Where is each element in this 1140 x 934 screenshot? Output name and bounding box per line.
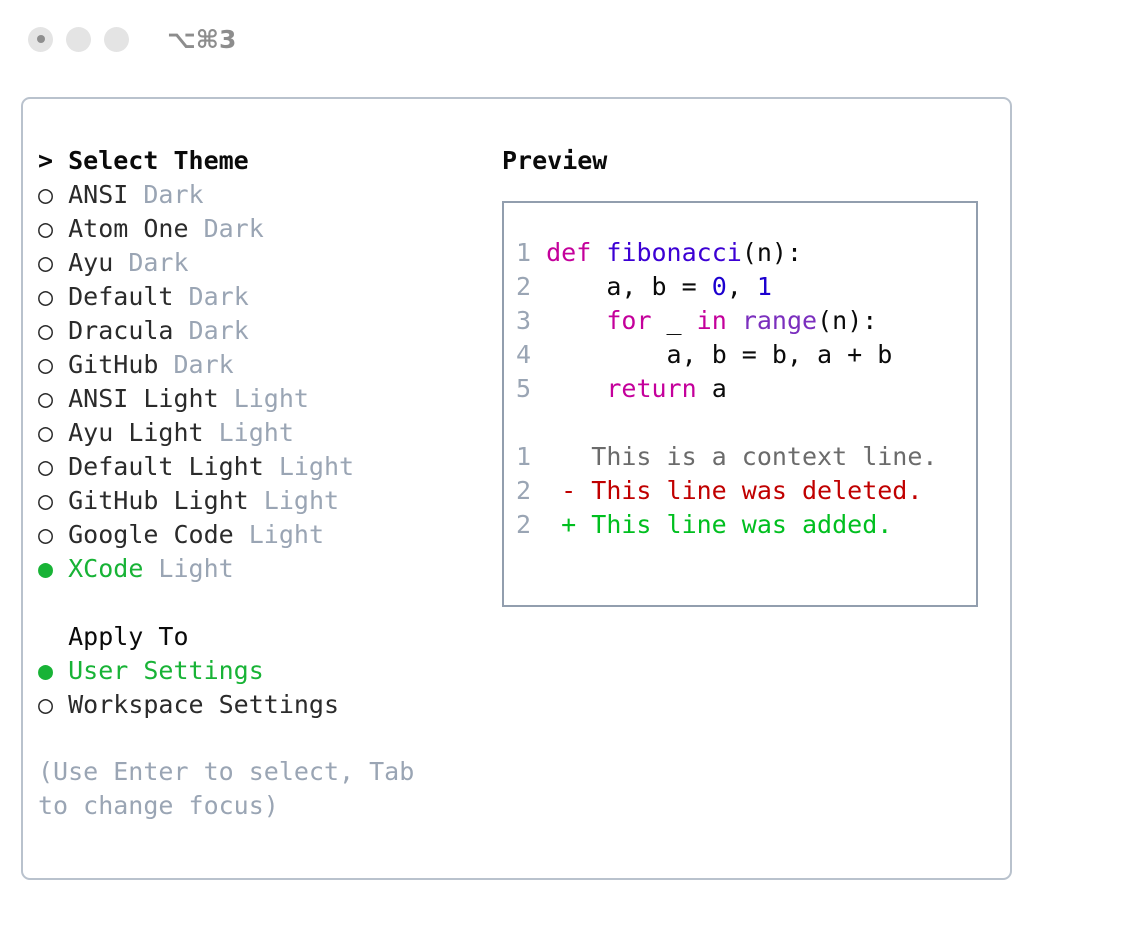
code-token: 0 bbox=[712, 272, 727, 301]
code-token bbox=[546, 306, 606, 335]
window-controls bbox=[28, 27, 129, 52]
code-token: in bbox=[697, 306, 727, 335]
theme-option-label: Google Code bbox=[53, 520, 234, 549]
theme-option-kind: Dark bbox=[128, 180, 203, 209]
line-number: 5 bbox=[516, 374, 531, 403]
code-token: a, b = b, a + b bbox=[546, 340, 892, 369]
preview-column: Preview 1 def fibonacci(n):2 a, b = 0, 1… bbox=[502, 144, 992, 607]
code-token: , bbox=[727, 272, 757, 301]
code-token bbox=[546, 374, 606, 403]
theme-option-label: GitHub bbox=[53, 350, 158, 379]
code-sample: 1 def fibonacci(n):2 a, b = 0, 13 for _ … bbox=[516, 236, 976, 406]
code-token: range bbox=[742, 306, 817, 335]
theme-option-ayu-light[interactable]: ○ Ayu Light Light bbox=[38, 416, 468, 450]
line-number: 1 bbox=[516, 238, 531, 267]
apply-option-user-settings[interactable]: ● User Settings bbox=[38, 654, 468, 688]
apply-option-workspace-settings[interactable]: ○ Workspace Settings bbox=[38, 688, 468, 722]
radio-unselected-icon[interactable]: ○ bbox=[38, 486, 53, 515]
window-dot-second-icon[interactable] bbox=[66, 27, 91, 52]
code-gutter-space bbox=[531, 374, 546, 403]
theme-option-ansi[interactable]: ○ ANSI Dark bbox=[38, 178, 468, 212]
line-number: 3 bbox=[516, 306, 531, 335]
radio-unselected-icon[interactable]: ○ bbox=[38, 180, 53, 209]
code-line: 2 a, b = 0, 1 bbox=[516, 270, 976, 304]
code-token: fibonacci bbox=[606, 238, 741, 267]
line-number: 1 bbox=[516, 442, 531, 471]
theme-option-kind: Light bbox=[249, 486, 339, 515]
code-token bbox=[727, 306, 742, 335]
diff-line-text: - This line was deleted. bbox=[531, 476, 922, 505]
diff-spacer bbox=[516, 406, 976, 440]
select-theme-heading: > Select Theme bbox=[38, 144, 468, 178]
code-token: return bbox=[606, 374, 696, 403]
apply-to-list[interactable]: ● User Settings○ Workspace Settings bbox=[38, 654, 468, 722]
theme-option-kind: Dark bbox=[173, 316, 248, 345]
theme-option-label: GitHub Light bbox=[53, 486, 249, 515]
diff-line-ctx: 1 This is a context line. bbox=[516, 440, 976, 474]
code-line: 4 a, b = b, a + b bbox=[516, 338, 976, 372]
theme-option-label: ANSI bbox=[53, 180, 128, 209]
radio-unselected-icon[interactable]: ○ bbox=[38, 690, 53, 719]
theme-option-label: Atom One bbox=[53, 214, 188, 243]
code-token: a bbox=[697, 374, 727, 403]
window-dot-third-icon[interactable] bbox=[104, 27, 129, 52]
theme-option-xcode[interactable]: ● XCode Light bbox=[38, 552, 468, 586]
radio-unselected-icon[interactable]: ○ bbox=[38, 214, 53, 243]
window-dot-active-icon[interactable] bbox=[28, 27, 53, 52]
preview-heading: Preview bbox=[502, 144, 992, 178]
theme-option-label: Ayu bbox=[53, 248, 113, 277]
keyboard-hint-text: (Use Enter to select, Tab to change focu… bbox=[38, 755, 438, 823]
code-token: _ bbox=[652, 306, 697, 335]
code-gutter-space bbox=[531, 306, 546, 335]
keyboard-shortcut-label: ⌥⌘3 bbox=[167, 25, 236, 54]
theme-option-kind: Dark bbox=[173, 282, 248, 311]
radio-selected-icon[interactable]: ● bbox=[38, 554, 53, 583]
content-panel: > Select Theme ○ ANSI Dark○ Atom One Dar… bbox=[21, 97, 1012, 880]
theme-option-dracula[interactable]: ○ Dracula Dark bbox=[38, 314, 468, 348]
theme-option-kind: Dark bbox=[113, 248, 188, 277]
apply-option-label: Workspace Settings bbox=[53, 690, 339, 719]
window-dot-inner bbox=[37, 35, 45, 43]
theme-option-default-light[interactable]: ○ Default Light Light bbox=[38, 450, 468, 484]
theme-option-kind: Light bbox=[219, 384, 309, 413]
code-line: 5 return a bbox=[516, 372, 976, 406]
theme-option-ayu[interactable]: ○ Ayu Dark bbox=[38, 246, 468, 280]
diff-line-del: 2 - This line was deleted. bbox=[516, 474, 976, 508]
app-window: ⌥⌘3 > Select Theme ○ ANSI Dark○ Atom One… bbox=[0, 0, 1140, 934]
code-gutter-space bbox=[531, 238, 546, 267]
diff-line-text: + This line was added. bbox=[531, 510, 892, 539]
theme-option-kind: Dark bbox=[158, 350, 233, 379]
theme-option-google-code[interactable]: ○ Google Code Light bbox=[38, 518, 468, 552]
line-number: 2 bbox=[516, 272, 531, 301]
theme-option-label: XCode bbox=[53, 554, 143, 583]
theme-selector-column: > Select Theme ○ ANSI Dark○ Atom One Dar… bbox=[38, 144, 468, 823]
preview-box: 1 def fibonacci(n):2 a, b = 0, 13 for _ … bbox=[502, 201, 978, 607]
theme-option-github[interactable]: ○ GitHub Dark bbox=[38, 348, 468, 382]
radio-unselected-icon[interactable]: ○ bbox=[38, 248, 53, 277]
code-token: def bbox=[546, 238, 591, 267]
code-token: a, b = bbox=[546, 272, 712, 301]
theme-option-kind: Light bbox=[143, 554, 233, 583]
theme-option-kind: Light bbox=[234, 520, 324, 549]
theme-option-label: ANSI Light bbox=[53, 384, 219, 413]
code-token: 1 bbox=[757, 272, 772, 301]
title-bar: ⌥⌘3 bbox=[0, 0, 1140, 78]
code-line: 3 for _ in range(n): bbox=[516, 304, 976, 338]
code-token: (n): bbox=[742, 238, 802, 267]
theme-option-atom-one[interactable]: ○ Atom One Dark bbox=[38, 212, 468, 246]
theme-option-default[interactable]: ○ Default Dark bbox=[38, 280, 468, 314]
theme-option-label: Ayu Light bbox=[53, 418, 204, 447]
theme-option-github-light[interactable]: ○ GitHub Light Light bbox=[38, 484, 468, 518]
apply-to-heading: Apply To bbox=[38, 620, 468, 654]
apply-option-label: User Settings bbox=[53, 656, 264, 685]
code-token: for bbox=[606, 306, 651, 335]
theme-option-kind: Light bbox=[204, 418, 294, 447]
theme-option-label: Dracula bbox=[53, 316, 173, 345]
radio-selected-icon[interactable]: ● bbox=[38, 656, 53, 685]
code-gutter-space bbox=[531, 340, 546, 369]
theme-option-kind: Dark bbox=[189, 214, 264, 243]
radio-unselected-icon[interactable]: ○ bbox=[38, 350, 53, 379]
radio-unselected-icon[interactable]: ○ bbox=[38, 316, 53, 345]
list-spacer bbox=[38, 586, 468, 620]
radio-unselected-icon[interactable]: ○ bbox=[38, 282, 53, 311]
diff-line-add: 2 + This line was added. bbox=[516, 508, 976, 542]
line-number: 2 bbox=[516, 476, 531, 505]
code-gutter-space bbox=[531, 272, 546, 301]
theme-option-kind: Light bbox=[264, 452, 354, 481]
radio-unselected-icon[interactable]: ○ bbox=[38, 418, 53, 447]
diff-sample: 1 This is a context line.2 - This line w… bbox=[516, 440, 976, 542]
theme-option-label: Default bbox=[53, 282, 173, 311]
line-number: 4 bbox=[516, 340, 531, 369]
theme-list[interactable]: ○ ANSI Dark○ Atom One Dark○ Ayu Dark○ De… bbox=[38, 178, 468, 586]
radio-unselected-icon[interactable]: ○ bbox=[38, 384, 53, 413]
code-token: (n): bbox=[817, 306, 877, 335]
diff-line-text: This is a context line. bbox=[531, 442, 937, 471]
radio-unselected-icon[interactable]: ○ bbox=[38, 452, 53, 481]
radio-unselected-icon[interactable]: ○ bbox=[38, 520, 53, 549]
line-number: 2 bbox=[516, 510, 531, 539]
theme-option-label: Default Light bbox=[53, 452, 264, 481]
code-token bbox=[591, 238, 606, 267]
theme-option-ansi-light[interactable]: ○ ANSI Light Light bbox=[38, 382, 468, 416]
code-line: 1 def fibonacci(n): bbox=[516, 236, 976, 270]
